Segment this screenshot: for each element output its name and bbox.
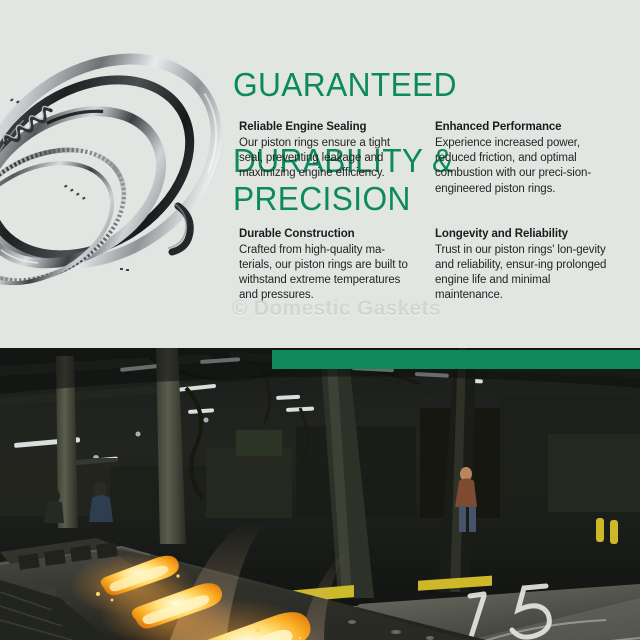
feature-body: Trust in our piston rings' lon-gevity an… [435, 243, 615, 304]
feature-title: Longevity and Reliability [435, 227, 615, 242]
poster-root: GUARANTEED DURABILITY & PRECISION Reliab… [0, 0, 640, 640]
feature-item-enhanced-performance: Enhanced Performance Experience increase… [435, 120, 615, 197]
feature-title: Reliable Engine Sealing [239, 120, 415, 135]
feature-item-longevity-and-reliability: Longevity and Reliability Trust in our p… [435, 227, 615, 304]
feature-item-reliable-engine-sealing: Reliable Engine Sealing Our piston rings… [239, 120, 415, 197]
feature-item-durable-construction: Durable Construction Crafted from high-q… [239, 227, 415, 304]
top-section: GUARANTEED DURABILITY & PRECISION Reliab… [0, 0, 640, 348]
feature-body: Crafted from high-quality ma-terials, ou… [239, 243, 415, 304]
feature-grid: Reliable Engine Sealing Our piston rings… [239, 120, 624, 304]
feature-body: Our piston rings ensure a tight seal, pr… [239, 136, 415, 182]
green-accent-bar [272, 350, 640, 369]
foundry-factory-photo [0, 348, 640, 640]
piston-rings-photo [0, 10, 232, 330]
feature-title: Durable Construction [239, 227, 415, 242]
feature-title: Enhanced Performance [435, 120, 615, 135]
feature-body: Experience increased power, reduced fric… [435, 136, 615, 197]
headline-line-1: GUARANTEED [233, 66, 617, 104]
